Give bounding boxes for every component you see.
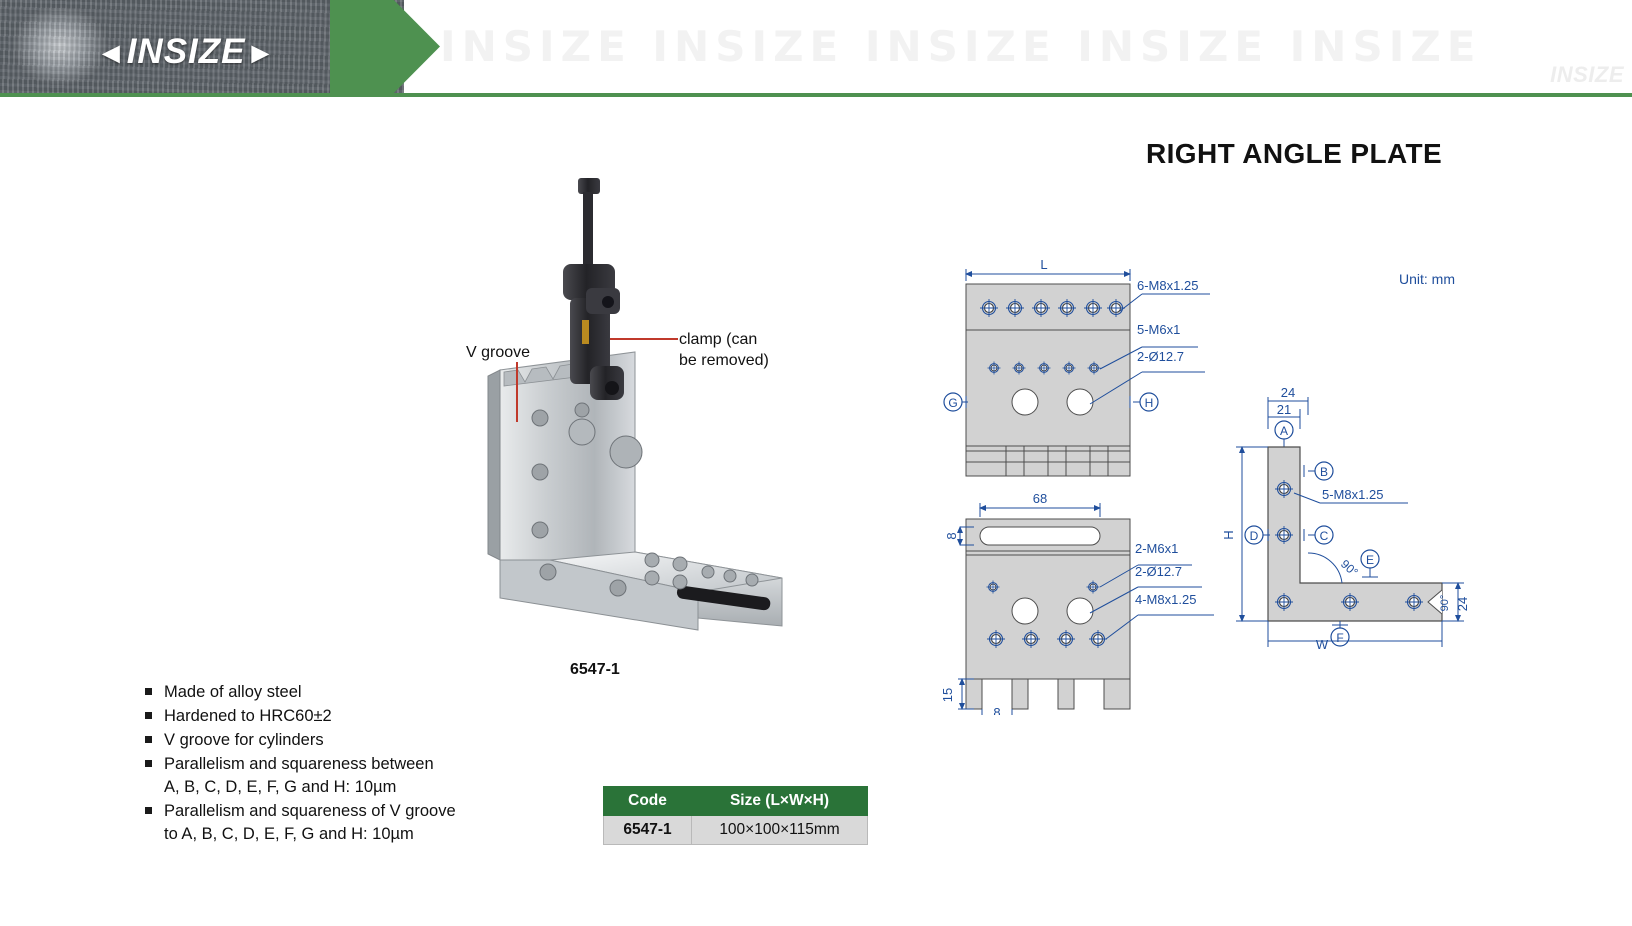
svg-text:F: F — [1336, 631, 1343, 645]
side-view: 68 8 — [940, 491, 1214, 715]
table-row: 6547-1 100×100×115mm — [604, 816, 868, 845]
dim-8-top-label: 8 — [944, 532, 959, 539]
page-title: RIGHT ANGLE PLATE — [1146, 138, 1442, 170]
cell-size: 100×100×115mm — [692, 816, 868, 845]
logo-right-arrow-icon: ► — [246, 37, 277, 70]
datum-F: F — [1331, 621, 1349, 646]
list-item: Parallelism and squareness of V groove t… — [145, 800, 565, 846]
product-photo-illustration — [430, 160, 860, 690]
bullet-icon — [145, 688, 152, 695]
dim-21-label: 21 — [1277, 402, 1291, 417]
header-divider — [0, 93, 1632, 97]
column-header-size: Size (L×W×H) — [692, 787, 868, 816]
callout-v-groove: V groove — [466, 342, 530, 363]
feature-text: Made of alloy steel — [164, 683, 302, 701]
dim-15-label: 15 — [940, 688, 955, 702]
label-6-M8: 6-M8x1.25 — [1137, 278, 1198, 293]
angle-view: 24 21 A H — [1221, 385, 1470, 652]
v-groove-leader-line — [516, 362, 518, 422]
callout-clamp-line2: be removed) — [679, 352, 769, 369]
label-5-M8: 5-M8x1.25 — [1322, 487, 1383, 502]
svg-text:E: E — [1366, 553, 1374, 567]
label-4-M8: 4-M8x1.25 — [1135, 592, 1196, 607]
bullet-icon — [145, 736, 152, 743]
feature-list: Made of alloy steel Hardened to HRC60±2 … — [145, 681, 565, 847]
feature-text: Hardened to HRC60±2 — [164, 707, 332, 725]
datum-H: H — [1130, 393, 1158, 411]
front-view: L — [944, 257, 1210, 476]
list-item: Made of alloy steel — [145, 681, 565, 704]
datum-B: B — [1304, 462, 1333, 480]
feature-text-cont: to A, B, C, D, E, F, G and H: 10µm — [164, 823, 565, 846]
datum-G: G — [944, 393, 968, 411]
datum-C: C — [1304, 526, 1333, 544]
angle-vgroove-label: 90° — [1439, 595, 1451, 612]
clamp-leader-line — [610, 338, 678, 340]
technical-drawings: L — [930, 255, 1490, 715]
svg-text:A: A — [1280, 424, 1288, 438]
dim-68-label: 68 — [1033, 491, 1047, 506]
header-watermark-text: INSIZE INSIZE INSIZE INSIZE INSIZE INSIZ… — [440, 22, 1480, 74]
dim-H-label: H — [1221, 530, 1236, 539]
table-header-row: Code Size (L×W×H) — [604, 787, 868, 816]
logo-wordmark: INSIZE — [127, 32, 246, 71]
feature-text: V groove for cylinders — [164, 731, 324, 749]
label-2-D12-7: 2-Ø12.7 — [1137, 349, 1184, 364]
list-item: Parallelism and squareness between A, B,… — [145, 753, 565, 799]
page-header: ◄INSIZE► INSIZE INSIZE INSIZE INSIZE INS… — [0, 0, 1632, 97]
svg-text:B: B — [1320, 465, 1328, 479]
bullet-icon — [145, 807, 152, 814]
angle-inner-label: 90° — [1338, 557, 1361, 580]
svg-text:H: H — [1145, 396, 1154, 410]
cell-code: 6547-1 — [604, 816, 692, 845]
dim-24-top-label: 24 — [1281, 385, 1295, 400]
insize-watermark-logo: INSIZE — [1550, 62, 1624, 88]
drawings-svg: L — [930, 255, 1490, 715]
svg-text:D: D — [1250, 529, 1259, 543]
label-5-M6: 5-M6x1 — [1137, 322, 1180, 337]
product-photo — [430, 160, 860, 690]
feature-text: Parallelism and squareness between — [164, 755, 434, 773]
column-header-code: Code — [604, 787, 692, 816]
logo-left-arrow-icon: ◄ — [96, 37, 127, 70]
specification-table: Code Size (L×W×H) 6547-1 100×100×115mm — [603, 786, 868, 845]
dim-8-bottom-label: 8 — [993, 705, 1000, 715]
callout-clamp: clamp (can be removed) — [679, 329, 769, 371]
datum-D: D — [1245, 526, 1270, 544]
dim-W-label: W — [1316, 637, 1329, 652]
product-model-code: 6547-1 — [570, 661, 620, 679]
label-2-M6: 2-M6x1 — [1135, 541, 1178, 556]
callout-clamp-line1: clamp (can — [679, 331, 757, 348]
insize-logo: ◄INSIZE► — [96, 32, 276, 72]
bullet-icon — [145, 760, 152, 767]
datum-A: A — [1275, 421, 1293, 447]
list-item: V groove for cylinders — [145, 729, 565, 752]
datum-E: E — [1361, 550, 1379, 577]
dim-L-label: L — [1040, 257, 1047, 272]
svg-text:G: G — [948, 396, 957, 410]
header-green-chevron — [330, 0, 440, 93]
bullet-icon — [145, 712, 152, 719]
dim-24-right-label: 24 — [1455, 597, 1470, 611]
svg-text:C: C — [1320, 529, 1329, 543]
feature-text: Parallelism and squareness of V groove — [164, 802, 456, 820]
label-2-D12-7-side: 2-Ø12.7 — [1135, 564, 1182, 579]
feature-text-cont: A, B, C, D, E, F, G and H: 10µm — [164, 776, 565, 799]
list-item: Hardened to HRC60±2 — [145, 705, 565, 728]
